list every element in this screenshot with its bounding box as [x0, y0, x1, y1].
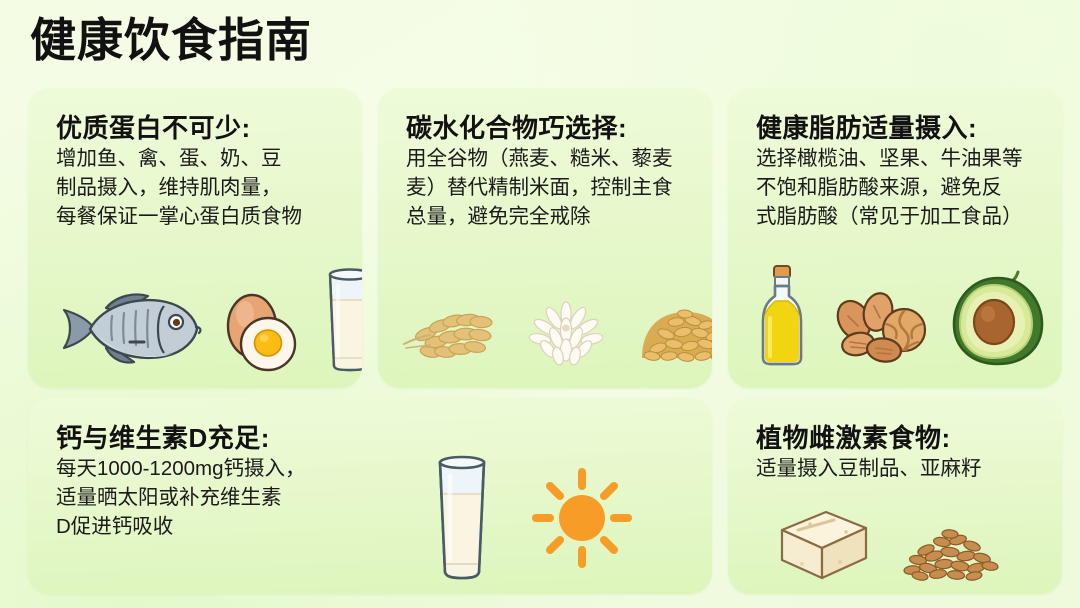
card-protein-body-line: 制品摄入，维持肌肉量， — [56, 173, 302, 202]
milk-glass-icon — [428, 454, 496, 582]
card-fats-heading: 健康脂肪适量摄入: — [756, 108, 977, 145]
card-fats: 健康脂肪适量摄入: 选择橄榄油、坚果、牛油果等 不饱和脂肪酸来源，避免反 式脂肪… — [728, 88, 1062, 388]
page-title: 健康饮食指南 — [30, 14, 312, 67]
egg-icon — [220, 282, 306, 374]
card-carbs-body: 用全谷物（燕麦、糙米、藜麦 麦）替代精制米面，控制主食 总量，避免完全戒除 — [406, 144, 673, 231]
card-carbs-body-line: 总量，避免完全戒除 — [406, 202, 673, 231]
card-calcium-body-line: 适量晒太阳或补充维生素 — [56, 483, 396, 512]
card-phyto-body: 适量摄入豆制品、亚麻籽 — [756, 454, 982, 483]
card-protein-illustrations — [54, 266, 362, 374]
card-calcium-heading: 钙与维生素D充足: — [56, 418, 270, 455]
tofu-block-icon — [762, 504, 874, 588]
card-phyto-heading: 植物雌激素食物: — [756, 418, 951, 455]
wheat-grains-icon — [636, 294, 712, 366]
card-carbs-heading: 碳水化合物巧选择: — [406, 108, 627, 145]
card-carbs-body-line: 用全谷物（燕麦、糙米、藜麦 — [406, 144, 673, 173]
card-calcium-body: 每天1000-1200mg钙摄入， 适量晒太阳或补充维生素 D促进钙吸收 — [56, 454, 396, 541]
card-protein-body-line: 每餐保证一掌心蛋白质食物 — [56, 202, 302, 231]
white-rice-icon — [518, 294, 614, 366]
card-protein: 优质蛋白不可少: 增加鱼、禽、蛋、奶、豆 制品摄入，维持肌肉量， 每餐保证一掌心… — [28, 88, 362, 388]
card-carbs: 碳水化合物巧选择: 用全谷物（燕麦、糙米、藜麦 麦）替代精制米面，控制主食 总量… — [378, 88, 712, 388]
flaxseed-pile-icon — [896, 514, 1004, 588]
card-phyto-illustrations — [762, 504, 1004, 588]
sun-icon — [530, 466, 634, 570]
infographic-page: 健康饮食指南 优质蛋白不可少: 增加鱼、禽、蛋、奶、豆 制品摄入，维持肌肉量， … — [0, 0, 1080, 608]
avocado-icon — [946, 266, 1050, 370]
card-fats-body-line: 选择橄榄油、坚果、牛油果等 — [756, 144, 1023, 173]
fish-icon — [54, 282, 206, 374]
card-calcium: 钙与维生素D充足: 每天1000-1200mg钙摄入， 适量晒太阳或补充维生素 … — [28, 398, 712, 594]
card-carbs-illustrations — [400, 294, 712, 366]
olive-oil-bottle-icon — [750, 262, 814, 370]
card-protein-heading: 优质蛋白不可少: — [56, 108, 251, 145]
card-calcium-body-line: D促进钙吸收 — [56, 512, 396, 541]
card-protein-body: 增加鱼、禽、蛋、奶、豆 制品摄入，维持肌肉量， 每餐保证一掌心蛋白质食物 — [56, 144, 302, 231]
card-calcium-illustrations — [428, 454, 634, 582]
card-phyto: 植物雌激素食物: 适量摄入豆制品、亚麻籽 — [728, 398, 1062, 594]
card-fats-body-line: 式脂肪酸（常见于加工食品） — [756, 202, 1023, 231]
milk-glass-icon — [320, 266, 362, 374]
card-fats-illustrations — [750, 262, 1050, 370]
card-protein-body-line: 增加鱼、禽、蛋、奶、豆 — [56, 144, 302, 173]
card-phyto-body-line: 适量摄入豆制品、亚麻籽 — [756, 454, 982, 483]
oat-grains-icon — [400, 294, 496, 366]
card-fats-body-line: 不饱和脂肪酸来源，避免反 — [756, 173, 1023, 202]
nuts-icon — [828, 278, 932, 370]
card-fats-body: 选择橄榄油、坚果、牛油果等 不饱和脂肪酸来源，避免反 式脂肪酸（常见于加工食品） — [756, 144, 1023, 231]
card-calcium-body-line: 每天1000-1200mg钙摄入， — [56, 454, 396, 483]
card-carbs-body-line: 麦）替代精制米面，控制主食 — [406, 173, 673, 202]
